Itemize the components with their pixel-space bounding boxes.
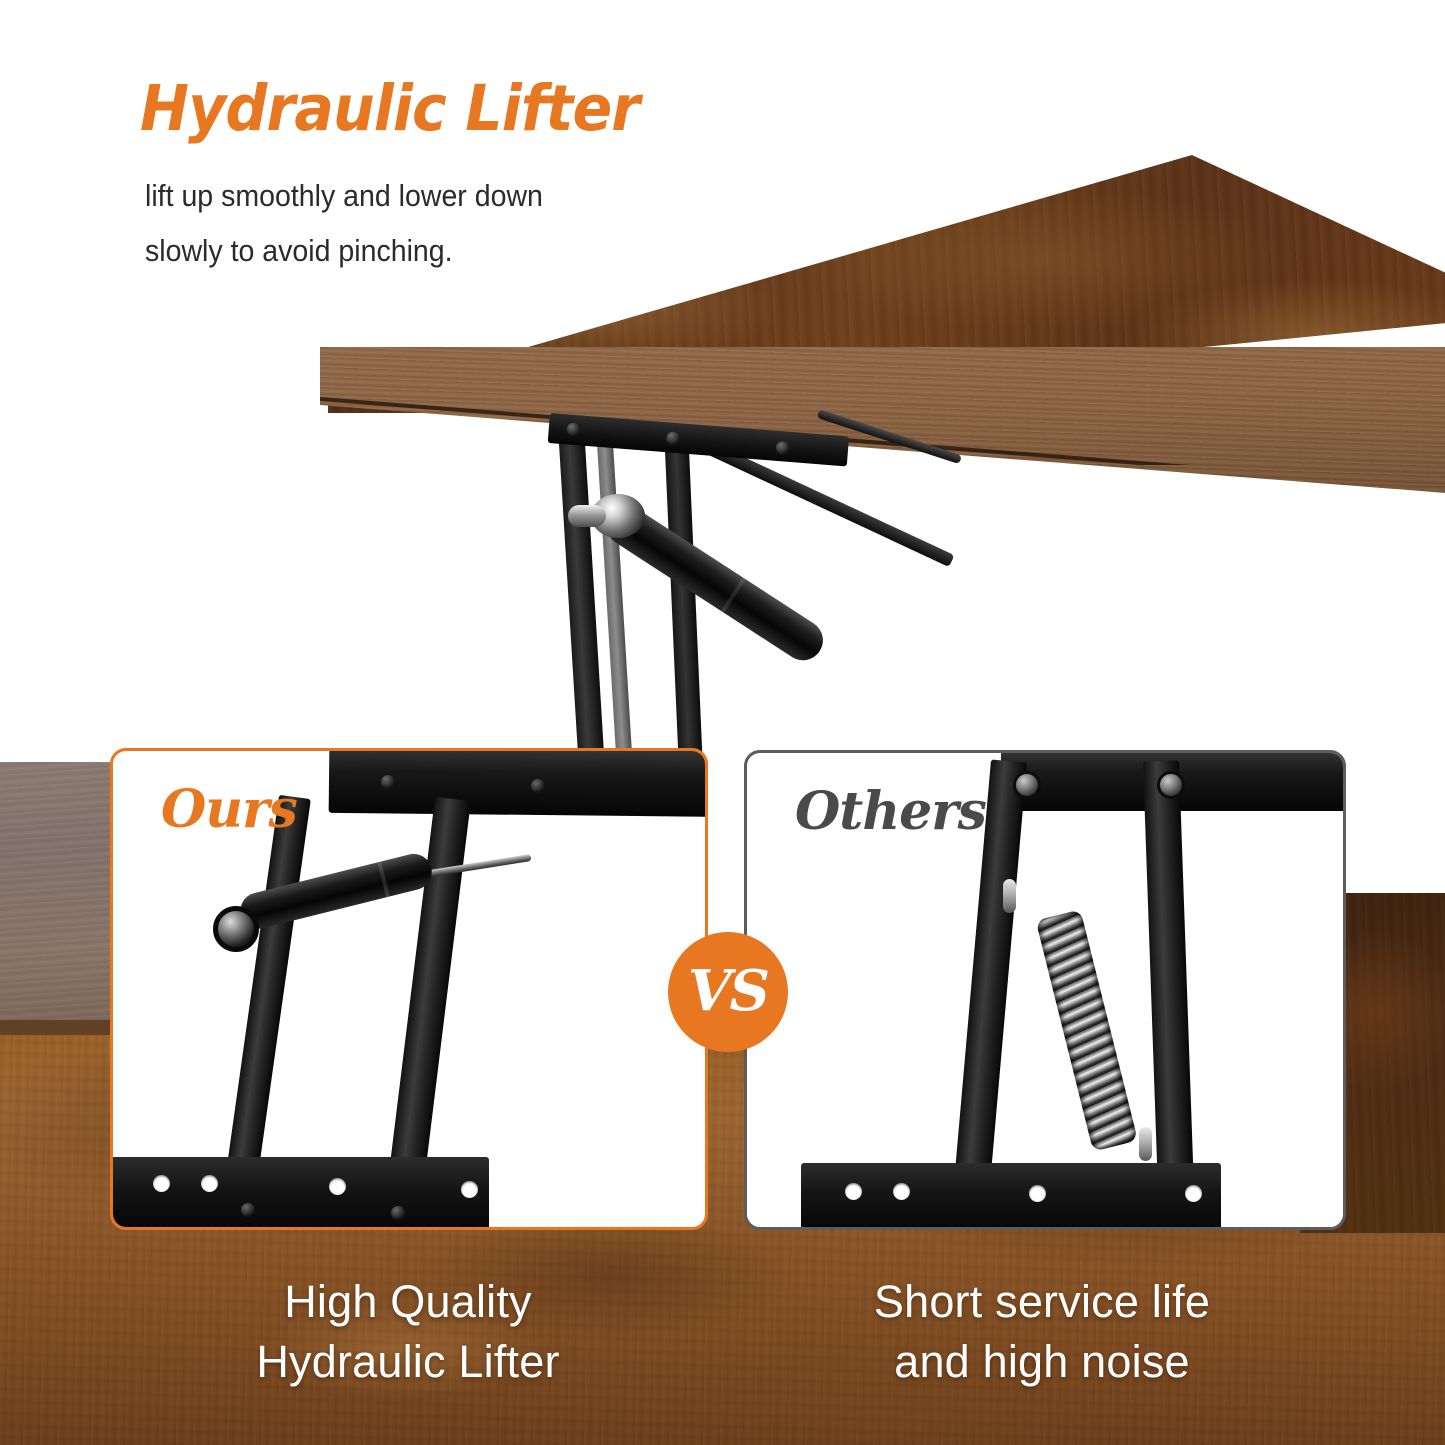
caption-others: Short service life and high noise [742, 1272, 1342, 1393]
ours-base-hole [201, 1175, 218, 1192]
others-arm-slot [1139, 1127, 1152, 1161]
ours-base-hole [153, 1175, 170, 1192]
comparison-panel-ours: Ours [110, 748, 708, 1230]
others-base-hole [845, 1183, 862, 1200]
subtitle-line-2: slowly to avoid pinching. [145, 223, 543, 278]
others-arm-rivet [1013, 771, 1041, 799]
ours-arm-left [221, 795, 311, 1215]
bracket-bolt [775, 441, 789, 455]
panel-label-others: Others [795, 781, 986, 842]
others-base-hole [1185, 1185, 1202, 1202]
subtitle-line-1: lift up smoothly and lower down [145, 168, 543, 223]
bracket-bolt [566, 422, 580, 436]
others-base-hole [893, 1183, 910, 1200]
caption-ours-line-1: High Quality [108, 1272, 708, 1332]
tabletop-edge-band [320, 347, 1445, 507]
hydraulic-strut-pin [568, 505, 606, 527]
ours-base-hole [329, 1178, 346, 1195]
ours-crossbar-bolt [381, 775, 395, 789]
caption-others-line-2: and high noise [742, 1332, 1342, 1392]
table-leg-rear-bar [664, 426, 703, 775]
others-base-hole [1029, 1185, 1046, 1202]
ours-base-hole [461, 1181, 478, 1198]
ours-crossbar-bolt [531, 779, 545, 793]
vs-badge: VS [668, 932, 788, 1052]
caption-others-line-1: Short service life [742, 1272, 1342, 1332]
others-base-plate [801, 1163, 1221, 1230]
comparison-panel-others: Others [744, 750, 1346, 1230]
ours-gas-strut [237, 850, 436, 932]
panel-label-ours: Ours [161, 779, 297, 840]
bracket-bolt [666, 431, 680, 445]
others-arm-rivet [1157, 771, 1185, 799]
ours-base-bolt [391, 1206, 405, 1220]
page-subtitle: lift up smoothly and lower down slowly t… [145, 168, 543, 278]
others-arm-slot [1003, 879, 1016, 913]
background-table-edge-plank [0, 762, 124, 1062]
infographic-root: Hydraulic Lifter lift up smoothly and lo… [0, 0, 1445, 1445]
others-coil-spring [1036, 909, 1138, 1151]
caption-ours-line-2: Hydraulic Lifter [108, 1332, 708, 1392]
vs-label: VS [688, 963, 768, 1019]
ours-base-bolt [241, 1203, 255, 1217]
page-title: Hydraulic Lifter [140, 72, 639, 145]
caption-ours: High Quality Hydraulic Lifter [108, 1272, 708, 1393]
ours-base-plate [110, 1157, 489, 1230]
ours-strut-ball-joint [213, 906, 259, 952]
